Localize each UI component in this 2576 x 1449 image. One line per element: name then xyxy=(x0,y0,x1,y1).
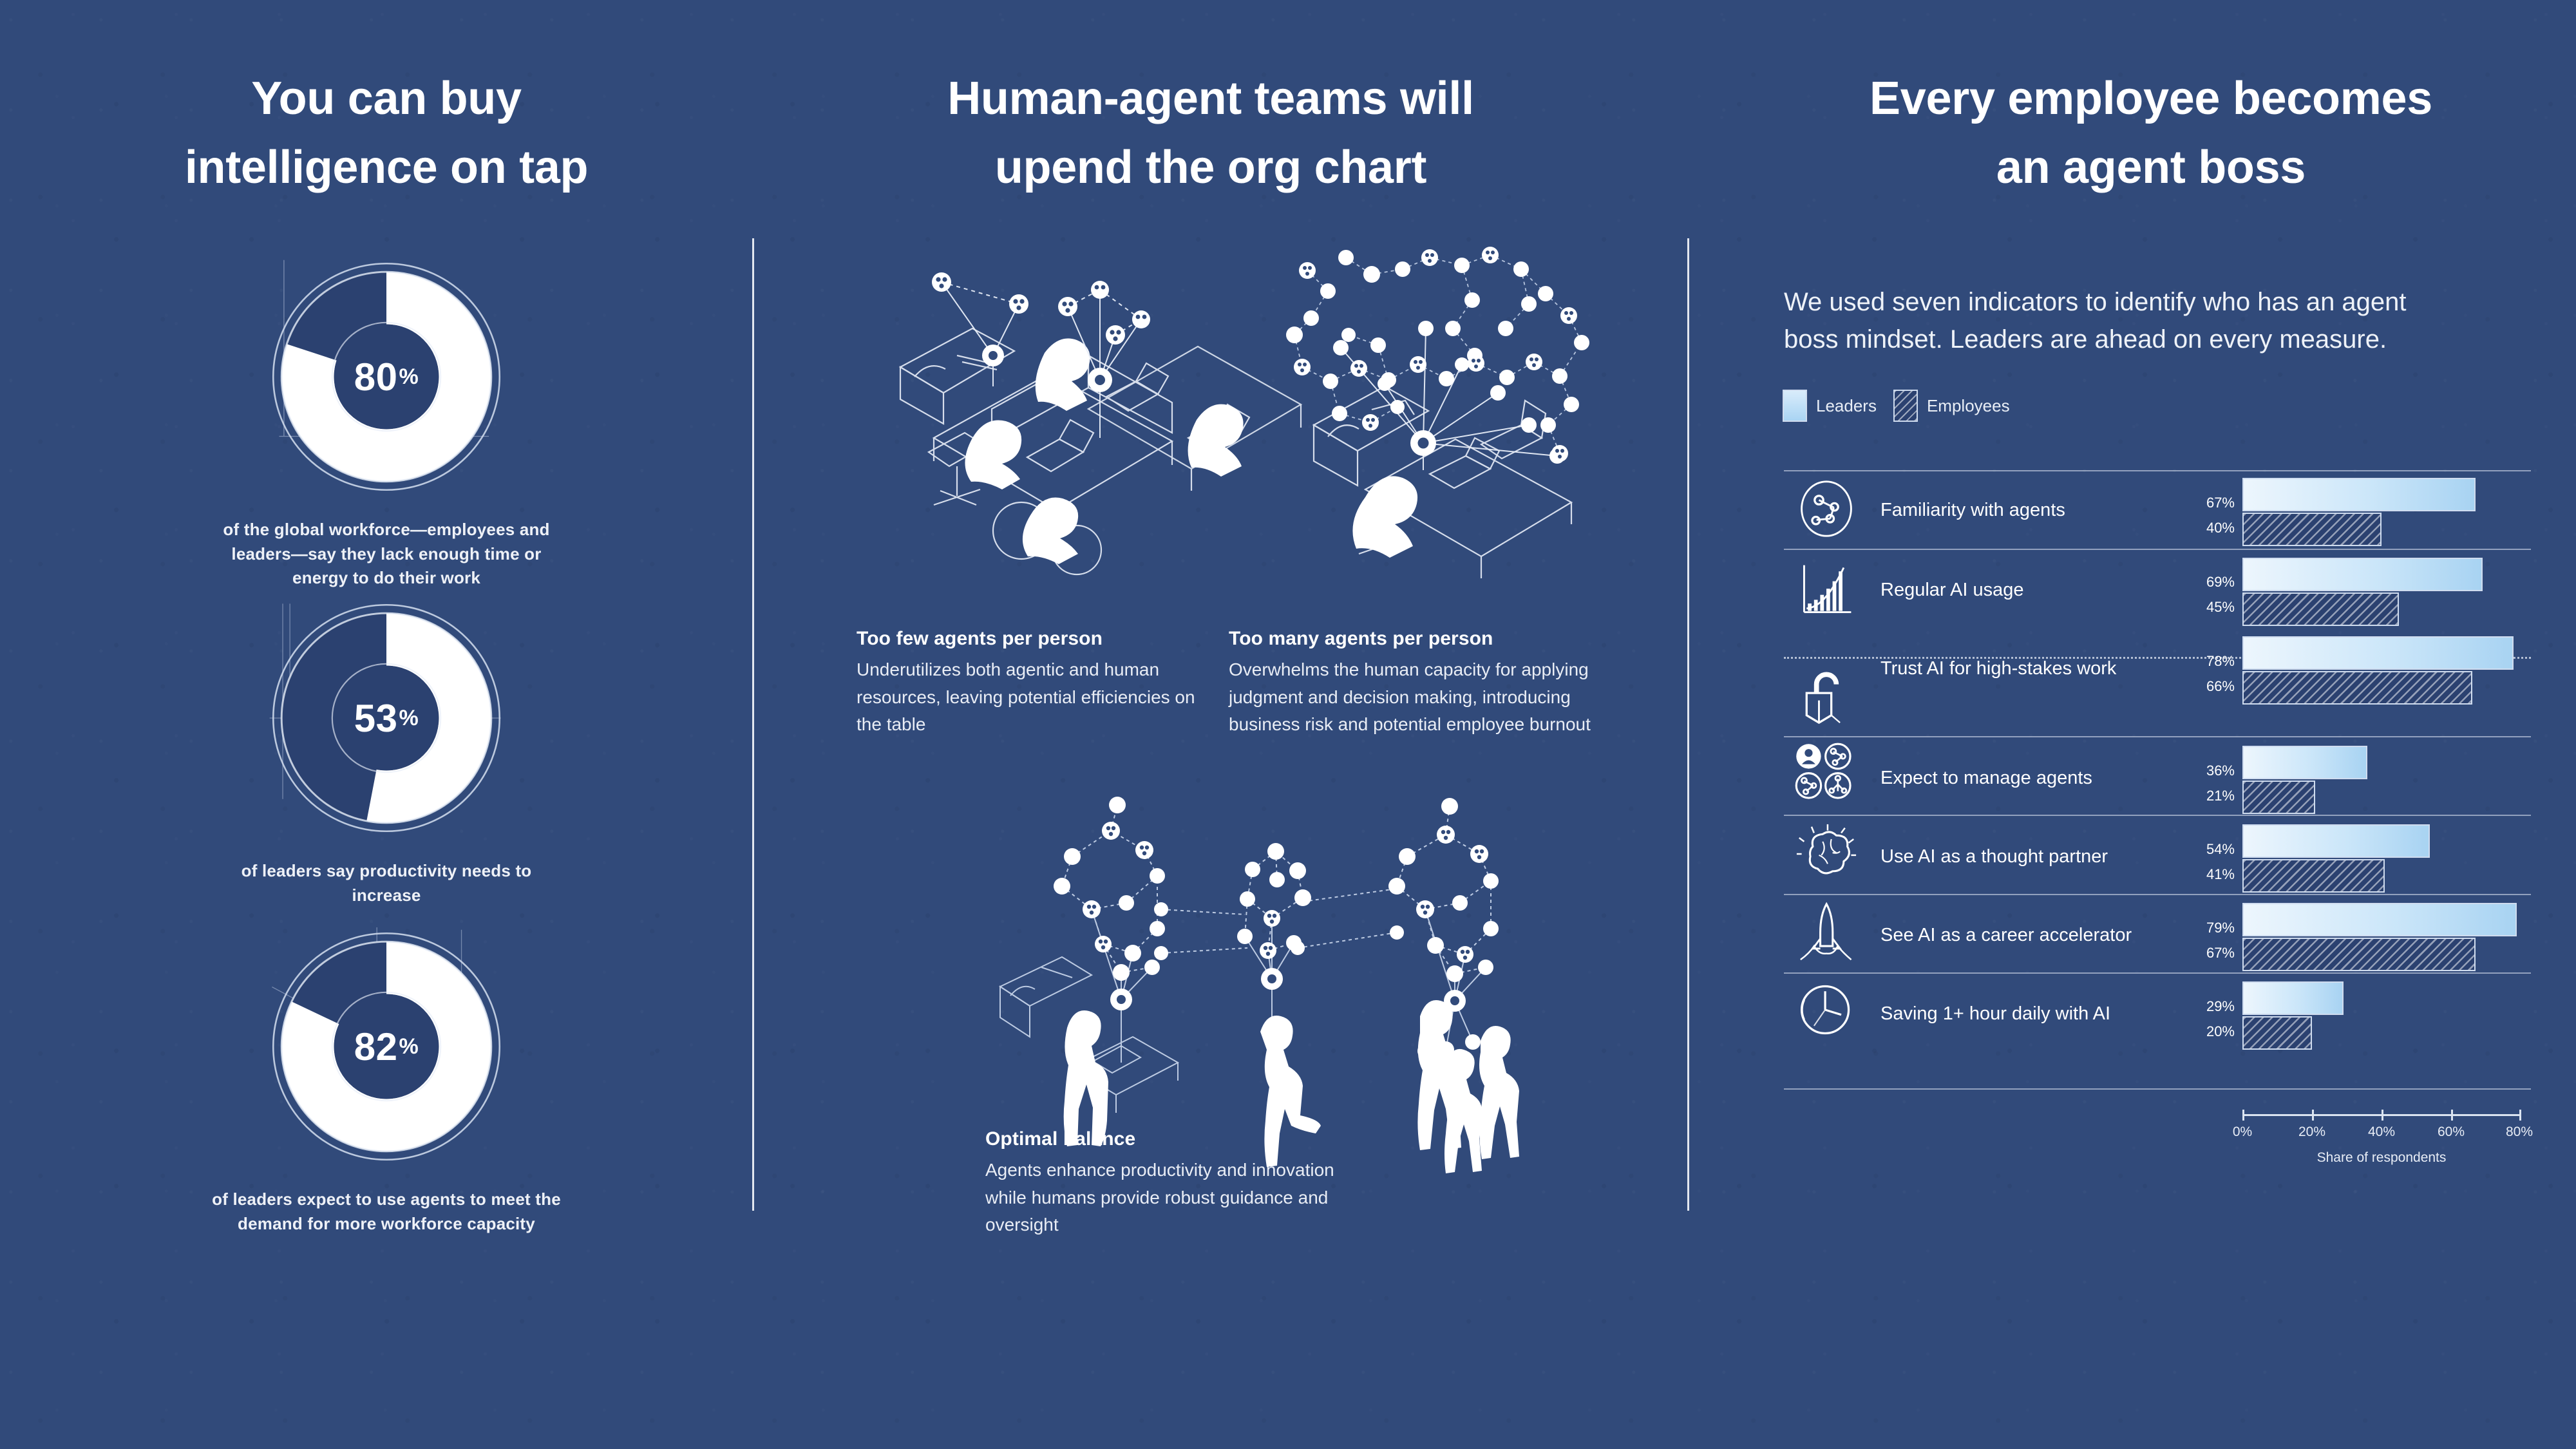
axis-tick-60 xyxy=(2451,1110,2453,1121)
indicator-label-6: See AI as a career accelerator xyxy=(1880,925,2132,946)
infographic-canvas: You can buy intelligence on tap xyxy=(0,0,2576,1449)
donut-block-3: 82% of leaders expect to use agents to m… xyxy=(206,927,567,1236)
note-optimal-balance: Optimal balance Agents enhance productiv… xyxy=(985,1128,1346,1239)
value-employees-1: 40% xyxy=(2175,516,2235,541)
axis-tick-0 xyxy=(2242,1110,2244,1121)
note-too-few-agents: Too few agents per person Underutilizes … xyxy=(857,628,1204,739)
donut-chart-2: 53% xyxy=(267,599,506,837)
axis-tick-label-0: 0% xyxy=(2233,1124,2252,1140)
indicator-values-5: 54% 41% xyxy=(2175,837,2235,887)
middle-title-line-1: Human-agent teams will xyxy=(837,64,1584,133)
note-body-too-many: Overwhelms the human capacity for applyi… xyxy=(1229,656,1607,739)
column-divider-left xyxy=(752,238,754,1211)
left-title-line-1: You can buy xyxy=(90,64,683,133)
donut-percent-3: % xyxy=(399,1034,419,1059)
row-separator-1 xyxy=(1784,549,2531,550)
bar-employees-6 xyxy=(2242,938,2476,971)
brain-idea-icon xyxy=(1795,823,1857,885)
row-separator-top xyxy=(1784,470,2531,471)
growth-chart-icon xyxy=(1795,559,1857,621)
too-many-agents-illustration xyxy=(1269,232,1616,580)
note-heading-optimal: Optimal balance xyxy=(985,1128,1346,1150)
hub-node-icon xyxy=(1410,430,1436,456)
value-leaders-4: 36% xyxy=(2175,759,2235,784)
indicator-label-5: Use AI as a thought partner xyxy=(1880,846,2108,867)
rocket-icon xyxy=(1798,900,1860,962)
donut-value-2: 53% xyxy=(267,599,506,837)
value-employees-5: 41% xyxy=(2175,862,2235,887)
indicator-label-7: Saving 1+ hour daily with AI xyxy=(1880,1003,2110,1025)
indicator-values-6: 79% 67% xyxy=(2175,916,2235,965)
bar-employees-1 xyxy=(2242,513,2382,546)
donut-chart-3: 82% xyxy=(267,927,506,1166)
axis-tick-label-40: 40% xyxy=(2368,1124,2395,1140)
middle-title-line-2: upend the org chart xyxy=(837,133,1584,202)
column-divider-right xyxy=(1687,238,1689,1211)
donut-caption-2: of leaders say productivity needs to inc… xyxy=(206,859,567,907)
indicator-label-4: Expect to manage agents xyxy=(1880,768,2092,789)
value-employees-3: 66% xyxy=(2175,674,2235,699)
hub-node-icon xyxy=(1110,968,1466,1012)
indicator-values-4: 36% 21% xyxy=(2175,759,2235,808)
value-employees-6: 67% xyxy=(2175,941,2235,966)
too-few-agents-illustration xyxy=(895,245,1301,580)
person-and-agents-icon xyxy=(1793,741,1855,802)
axis-title: Share of respondents xyxy=(2317,1150,2447,1166)
right-title-line-1: Every employee becomes xyxy=(1777,64,2524,133)
right-column-title: Every employee becomes an agent boss xyxy=(1777,64,2524,202)
legend-item-leaders[interactable]: Leaders xyxy=(1783,390,1877,422)
bar-employees-7 xyxy=(2242,1016,2312,1050)
axis-tick-label-80: 80% xyxy=(2506,1124,2533,1140)
bar-leaders-5 xyxy=(2242,824,2430,858)
bar-leaders-1 xyxy=(2242,478,2476,511)
value-leaders-3: 78% xyxy=(2175,649,2235,674)
indicator-values-7: 29% 20% xyxy=(2175,994,2235,1044)
donut-caption-1: of the global workforce—employees and le… xyxy=(206,518,567,591)
agent-network-icon xyxy=(1795,478,1857,540)
value-leaders-1: 67% xyxy=(2175,491,2235,516)
bar-leaders-6 xyxy=(2242,903,2517,936)
row-separator-5 xyxy=(1784,894,2531,895)
donut-block-2: 53% of leaders say productivity needs to… xyxy=(206,599,567,907)
value-employees-4: 21% xyxy=(2175,784,2235,809)
legend-swatch-leaders xyxy=(1783,390,1807,422)
bar-employees-5 xyxy=(2242,859,2385,893)
note-heading-too-few: Too few agents per person xyxy=(857,628,1204,650)
note-too-many-agents: Too many agents per person Overwhelms th… xyxy=(1229,628,1607,739)
chart-legend: Leaders Employees xyxy=(1783,390,2010,422)
indicator-label-2: Regular AI usage xyxy=(1880,580,2023,601)
row-separator-bottom xyxy=(1784,1088,2531,1090)
axis-tick-80 xyxy=(2519,1110,2521,1121)
middle-column-title: Human-agent teams will upend the org cha… xyxy=(837,64,1584,202)
row-separator-4 xyxy=(1784,815,2531,816)
donut-percent-2: % xyxy=(399,706,419,731)
value-leaders-2: 69% xyxy=(2175,570,2235,595)
axis-tick-label-60: 60% xyxy=(2438,1124,2465,1140)
value-leaders-7: 29% xyxy=(2175,994,2235,1019)
donut-value-text-2: 53 xyxy=(354,696,398,741)
indicator-label-3: Trust AI for high-stakes work xyxy=(1880,658,2116,679)
donut-value-1: 80% xyxy=(267,258,506,496)
axis-tick-label-20: 20% xyxy=(2298,1124,2325,1140)
value-employees-2: 45% xyxy=(2175,595,2235,620)
left-column-title: You can buy intelligence on tap xyxy=(90,64,683,202)
lead-line-1: We used seven indicators to identify who… xyxy=(1784,283,2544,321)
optimal-balance-illustration xyxy=(995,760,1555,1121)
indicator-values-1: 67% 40% xyxy=(2175,491,2235,540)
donut-caption-3: of leaders expect to use agents to meet … xyxy=(206,1188,567,1236)
note-body-too-few: Underutilizes both agentic and human res… xyxy=(857,656,1204,739)
bar-leaders-4 xyxy=(2242,746,2367,779)
donut-block-1: 80% of the global workforce—employees an… xyxy=(206,258,567,591)
legend-swatch-employees xyxy=(1893,390,1918,422)
axis-tick-20 xyxy=(2312,1110,2314,1121)
donut-value-3: 82% xyxy=(267,927,506,1166)
right-panel-lead-text: We used seven indicators to identify who… xyxy=(1784,283,2544,359)
bar-leaders-3 xyxy=(2242,636,2514,670)
donut-value-text-3: 82 xyxy=(354,1025,398,1069)
value-leaders-6: 79% xyxy=(2175,916,2235,941)
donut-chart-1: 80% xyxy=(267,258,506,496)
legend-item-employees[interactable]: Employees xyxy=(1893,390,2010,422)
bar-employees-3 xyxy=(2242,671,2472,705)
note-body-optimal: Agents enhance productivity and innovati… xyxy=(985,1157,1346,1239)
right-title-line-2: an agent boss xyxy=(1777,133,2524,202)
clock-icon xyxy=(1795,979,1857,1041)
value-leaders-5: 54% xyxy=(2175,837,2235,862)
left-title-line-2: intelligence on tap xyxy=(90,133,683,202)
donut-percent-1: % xyxy=(399,365,419,390)
bar-employees-4 xyxy=(2242,781,2315,814)
bar-leaders-2 xyxy=(2242,558,2483,591)
indicator-values-2: 69% 45% xyxy=(2175,570,2235,620)
bar-leaders-7 xyxy=(2242,981,2344,1015)
value-employees-7: 20% xyxy=(2175,1019,2235,1045)
row-separator-6 xyxy=(1784,972,2531,974)
axis-tick-40 xyxy=(2382,1110,2383,1121)
note-heading-too-many: Too many agents per person xyxy=(1229,628,1607,650)
indicator-label-1: Familiarity with agents xyxy=(1880,500,2065,521)
legend-label-leaders: Leaders xyxy=(1816,396,1877,416)
indicator-values-3: 78% 66% xyxy=(2175,649,2235,699)
row-separator-3 xyxy=(1784,736,2531,737)
lead-line-2: boss mindset. Leaders are ahead on every… xyxy=(1784,321,2544,358)
unlocked-padlock-icon xyxy=(1795,663,1857,725)
legend-label-employees: Employees xyxy=(1927,396,2010,416)
bar-employees-2 xyxy=(2242,592,2399,626)
donut-value-text-1: 80 xyxy=(354,355,398,399)
